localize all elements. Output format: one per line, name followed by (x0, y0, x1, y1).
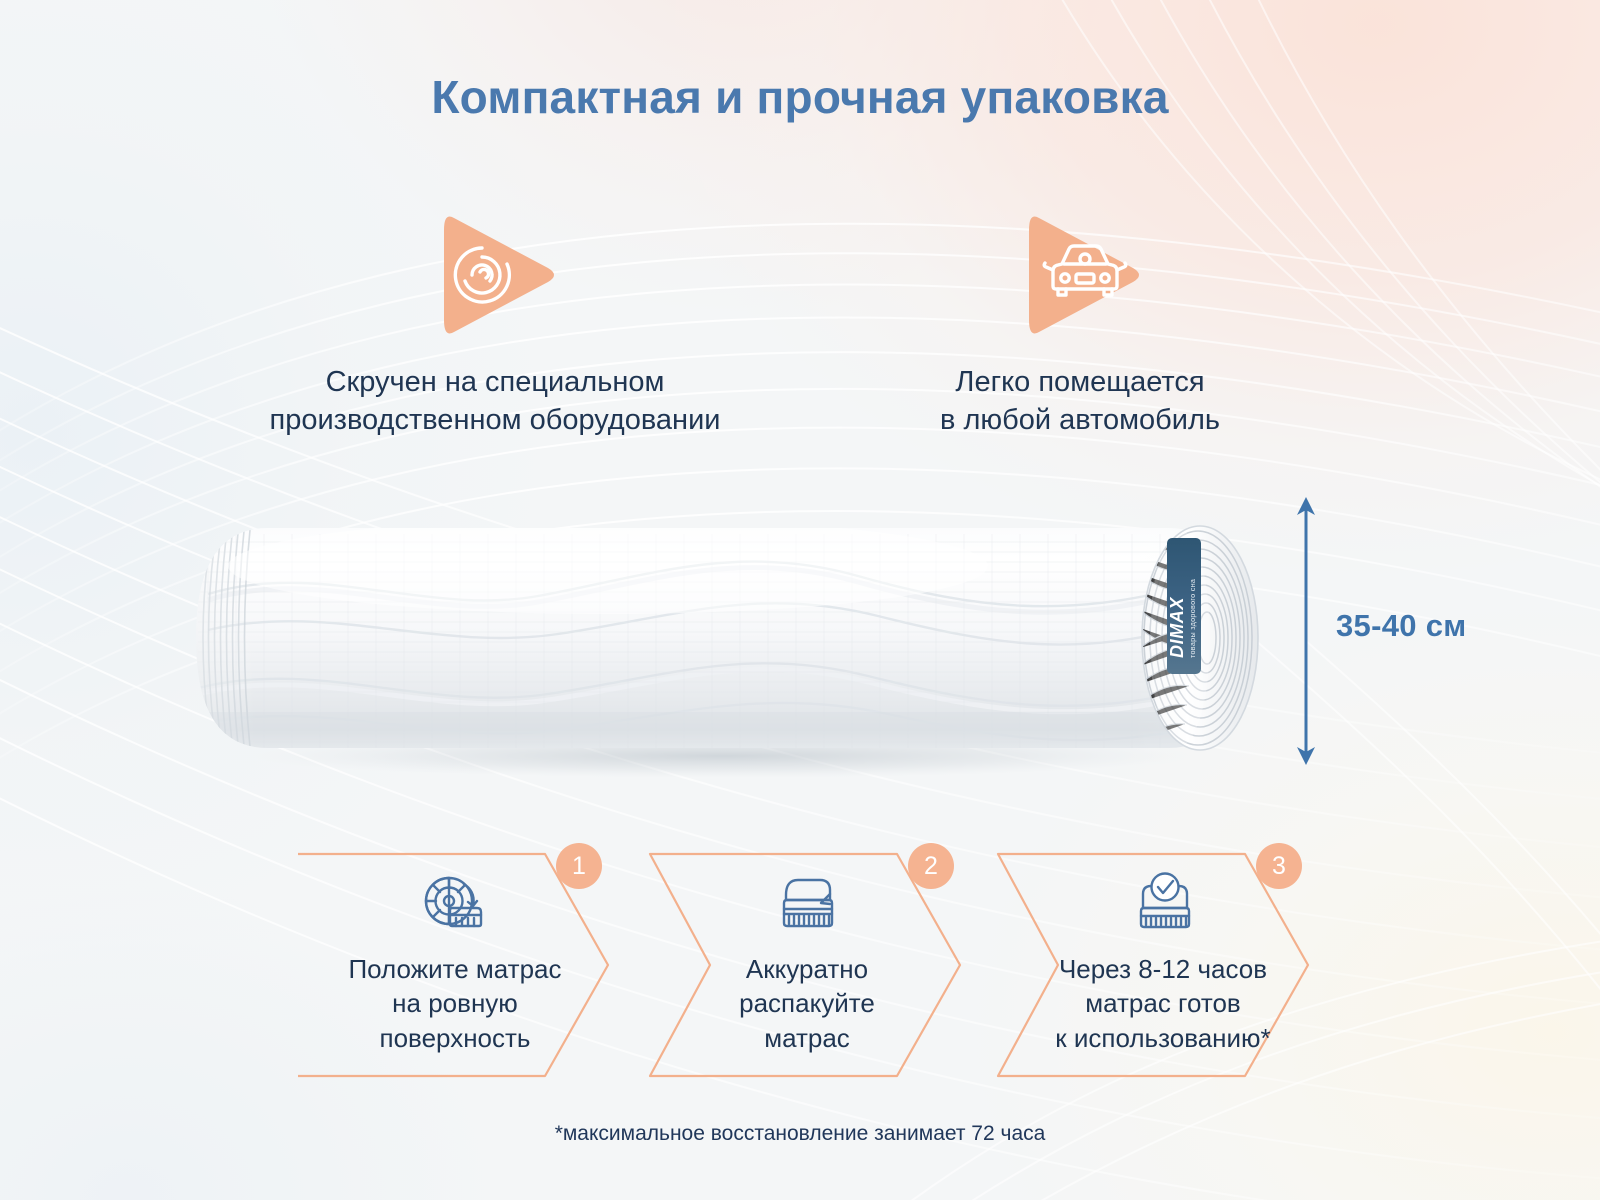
mattress-unpack-icon (770, 866, 844, 940)
step-card-1: 1 (290, 840, 620, 1090)
feature-2-caption: Легко помещается в любой автомобиль (880, 364, 1280, 439)
svg-text:DIMAX: DIMAX (1167, 597, 1187, 658)
step-1-caption: Положите матрас на ровную поверхность (290, 952, 620, 1055)
steps-row: 1 (290, 840, 1300, 1090)
step-card-3: 3 Ч (990, 840, 1320, 1090)
feature-1-caption: Скручен на специальном производственном … (200, 364, 790, 439)
infographic-canvas: Компактная и прочная упаковка Скручен на… (0, 0, 1600, 1200)
spiral-roll-icon (420, 200, 570, 350)
brand-tag: DIMAX товары здорового сна (1167, 538, 1201, 674)
rolled-mattress-unroll-icon (418, 866, 492, 940)
step-card-2: 2 А (642, 840, 972, 1090)
height-dimension-label: 35-40 см (1336, 608, 1466, 644)
step-3-icon-wrap (1000, 866, 1330, 940)
feature-2-icon-wrap (880, 200, 1280, 350)
step-3-caption: Через 8-12 часов матрас готов к использо… (998, 952, 1328, 1055)
feature-1-icon-wrap (200, 200, 790, 350)
rolled-mattress-svg: DIMAX товары здорового сна (178, 498, 1288, 778)
svg-text:товары здорового сна: товары здорового сна (1188, 579, 1197, 658)
feature-block-car: Легко помещается в любой автомобиль (880, 200, 1280, 439)
rolled-mattress-image: DIMAX товары здорового сна (178, 498, 1288, 778)
step-2-caption: Аккуратно распакуйте матрас (642, 952, 972, 1055)
footnote: *максимальное восстановление занимает 72… (0, 1122, 1600, 1146)
car-front-icon (1005, 200, 1155, 350)
step-2-icon-wrap (642, 866, 972, 940)
height-dimension-arrow (1288, 495, 1324, 767)
feature-block-rolled: Скручен на специальном производственном … (200, 200, 790, 439)
step-1-icon-wrap (290, 866, 620, 940)
page-title: Компактная и прочная упаковка (0, 70, 1600, 124)
mattress-check-icon (1128, 866, 1202, 940)
